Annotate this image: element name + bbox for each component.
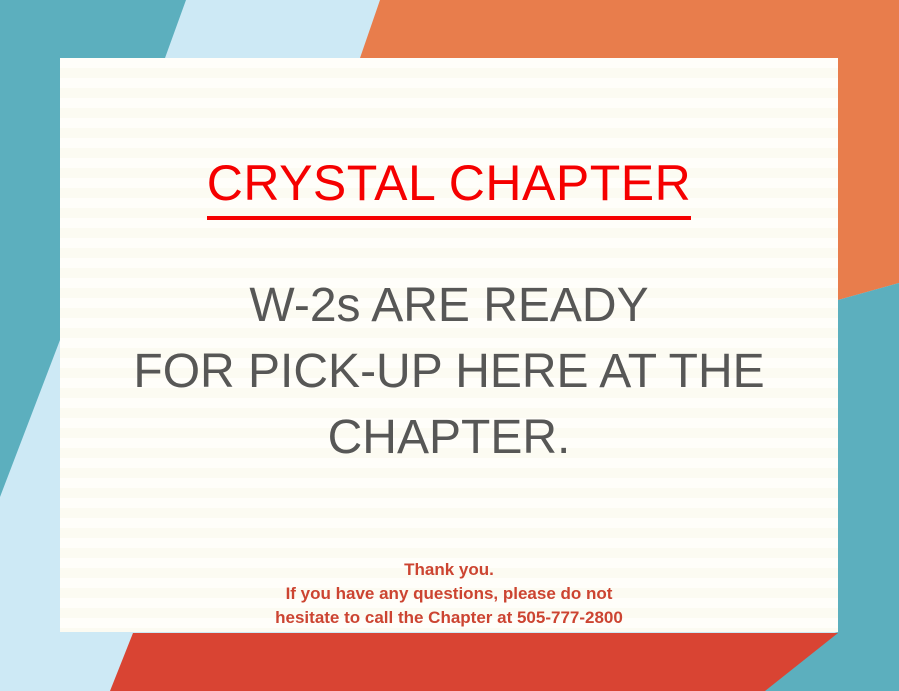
notice-card: CRYSTAL CHAPTER W-2s ARE READY FOR PICK-…: [60, 58, 838, 632]
red-bottom-band-shape: [110, 633, 838, 691]
page-title: CRYSTAL CHAPTER: [60, 154, 838, 220]
body-line-2: FOR PICK-UP HERE AT THE: [84, 339, 814, 405]
footer-line-1: Thank you.: [60, 558, 838, 582]
body-line-3: CHAPTER.: [84, 405, 814, 471]
page-title-text: CRYSTAL CHAPTER: [207, 154, 691, 220]
footer-message: Thank you. If you have any questions, pl…: [60, 558, 838, 630]
body-line-1: W-2s ARE READY: [84, 273, 814, 339]
footer-line-3: hesitate to call the Chapter at 505-777-…: [60, 606, 838, 630]
body-message: W-2s ARE READY FOR PICK-UP HERE AT THE C…: [84, 273, 814, 471]
footer-line-2: If you have any questions, please do not: [60, 582, 838, 606]
slide-canvas: CRYSTAL CHAPTER W-2s ARE READY FOR PICK-…: [0, 0, 899, 691]
card-content: CRYSTAL CHAPTER W-2s ARE READY FOR PICK-…: [60, 58, 838, 632]
